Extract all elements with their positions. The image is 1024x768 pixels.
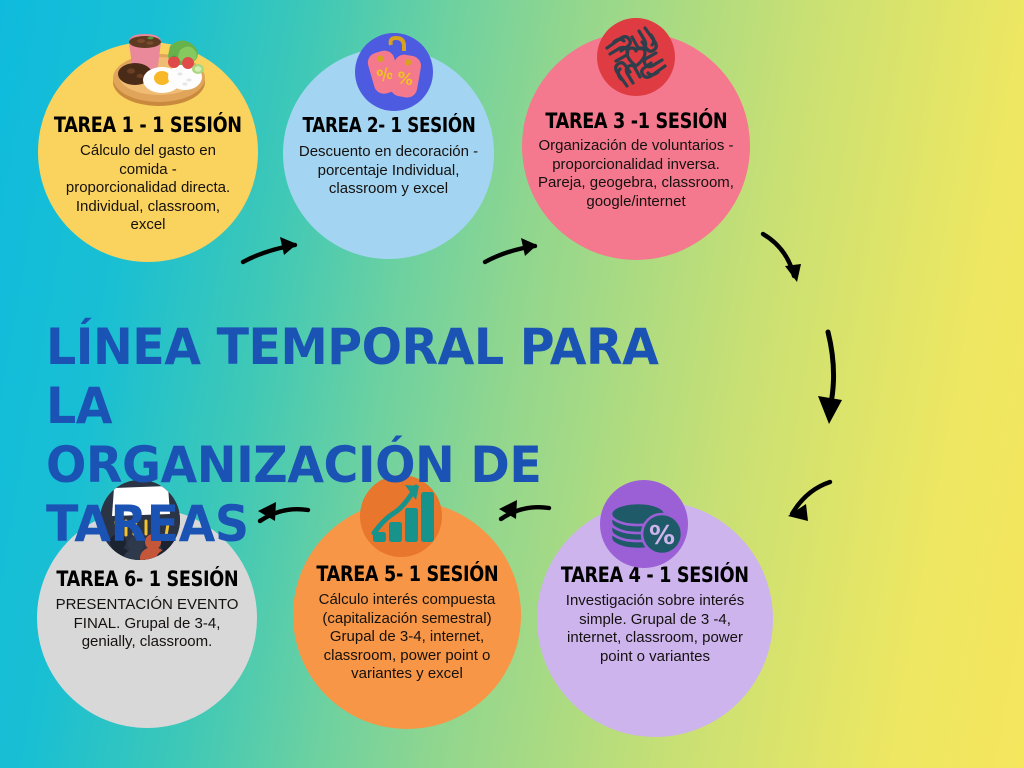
arrow-down-long-icon <box>812 326 854 436</box>
arrow-right-curved-icon <box>238 230 308 280</box>
svg-text:%: % <box>396 68 415 89</box>
page-title-line-2: ORGANIZACIÓN DE TAREAS <box>46 436 730 554</box>
infographic-canvas: TAREA 1 - 1 SESIÓN Cálculo del gasto en … <box>0 0 1024 768</box>
volunteer-hands-heart-icon <box>597 18 675 96</box>
arrow-left-curved-icon <box>248 498 312 538</box>
task-description: Cálculo interés compuesta (capitalizació… <box>301 585 513 684</box>
task-description: Cálculo del gasto en comida - proporcion… <box>64 136 232 235</box>
page-title-line-1: LÍNEA TEMPORAL PARA LA <box>46 318 730 436</box>
task-description: PRESENTACIÓN EVENTO FINAL. Grupal de 3-4… <box>52 590 242 652</box>
meal-plate-icon <box>110 22 208 114</box>
arrow-down-left-curved-icon <box>780 476 836 530</box>
page-title: LÍNEA TEMPORAL PARA LA ORGANIZACIÓN DE T… <box>46 318 766 554</box>
task-description: Investigación sobre interés simple. Grup… <box>552 586 758 666</box>
task-description: Descuento en decoración - porcentaje Ind… <box>296 136 481 199</box>
arrow-left-curved-icon <box>489 496 553 536</box>
discount-tags-icon: % % <box>355 33 433 111</box>
arrow-right-curved-icon <box>481 232 547 280</box>
task-description: Organización de voluntarios - proporcion… <box>530 132 742 211</box>
arrow-down-right-curved-icon <box>757 228 815 294</box>
